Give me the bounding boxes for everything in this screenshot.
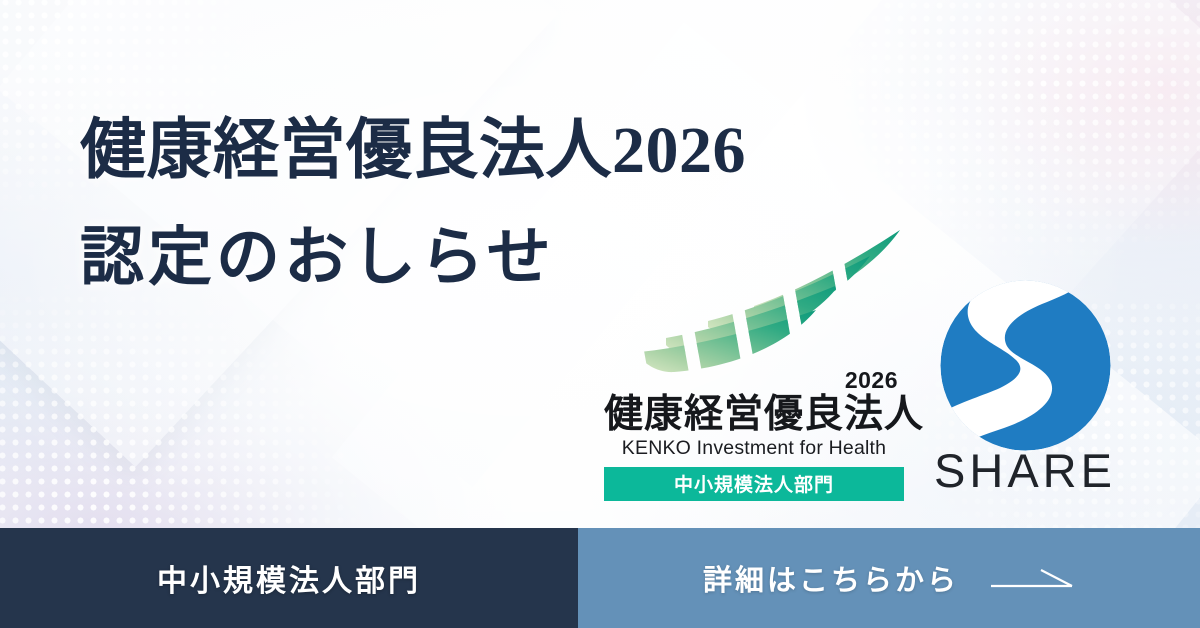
category-bar: 中小規模法人部門 [0, 528, 578, 628]
kenko-logo-title-en: KENKO Investment for Health [604, 437, 904, 460]
share-wordmark: SHARE [925, 447, 1125, 494]
kenko-wave-mark-icon [604, 228, 904, 373]
kenko-certification-logo: 2026 健康経営優良法人 KENKO Investment for Healt… [604, 228, 904, 501]
kenko-logo-year: 2026 [604, 369, 898, 392]
headline-line-1: 健康経営優良法人2026 [80, 118, 746, 184]
kenko-logo-category-badge: 中小規模法人部門 [604, 467, 904, 501]
long-arrow-right-icon [989, 565, 1075, 591]
promo-banner: 健康経営優良法人2026 認定のおしらせ [0, 0, 1200, 628]
category-bar-label: 中小規模法人部門 [157, 556, 421, 600]
details-cta-label: 詳細はこちらから [703, 557, 959, 599]
bottom-bar-group: 中小規模法人部門 詳細はこちらから [0, 528, 1200, 628]
share-circle-river-mark-icon [938, 278, 1113, 453]
share-corporate-logo: SHARE [925, 278, 1125, 494]
details-cta-bar[interactable]: 詳細はこちらから [578, 528, 1200, 628]
kenko-logo-title-jp: 健康経営優良法人 [604, 394, 904, 435]
